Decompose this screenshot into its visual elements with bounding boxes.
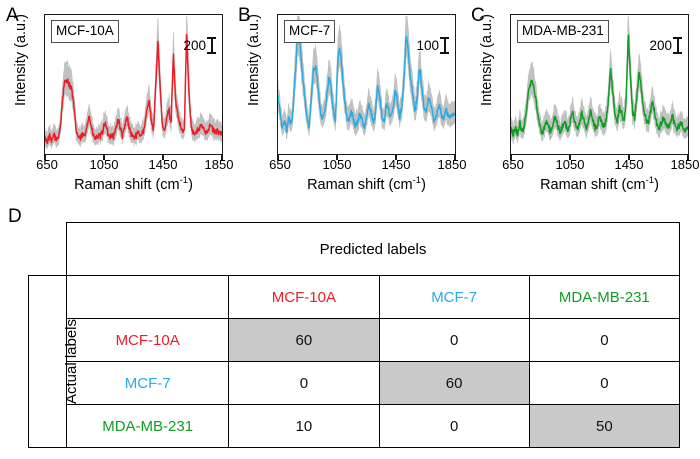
cell-mcf7-mdamb231: 0 [529,362,679,405]
sample-tag-b: MCF-7 [284,20,335,43]
cell-mcf10a-mcf10a: 60 [229,319,379,362]
x-axis-label-tail: ) [654,177,659,193]
column-header-mcf7: MCF-7 [379,276,529,319]
cell-mcf10a-mcf7: 0 [379,319,529,362]
header-corner-blank [67,276,229,319]
plot-area-b: MCF-7 100 [277,14,456,155]
x-tick-label: 1050 [556,158,585,171]
x-axis-label-b: Raman shift (cm-1) [277,175,456,193]
x-axis-label-text: Raman shift (cm [540,177,646,193]
x-tick-label: 1850 [205,158,234,171]
plot-area-a: MCF-10A 200 [44,14,223,155]
table-row: MCF-10A 60 0 0 [29,319,680,362]
scale-bar-value-b: 100 [416,39,439,53]
table-row: MDA-MB-231 10 0 50 [29,405,680,448]
x-tick-label: 1850 [671,158,700,171]
x-tick-label: 1450 [615,158,644,171]
confusion-matrix-wrapper: Predicted labels Actual labels MCF-10A M… [28,222,680,444]
table-row-predicted-header: Predicted labels [29,223,680,276]
cell-mcf10a-mdamb231: 0 [529,319,679,362]
confusion-matrix-table: Predicted labels Actual labels MCF-10A M… [28,222,680,448]
x-axis-tick-labels-b: 650 1050 1450 1850 [233,158,466,174]
row-header-mdamb231: MDA-MB-231 [67,405,229,448]
scale-bar-ibeam-icon-b [440,37,449,54]
panel-c-mdamb231-spectrum: C Intensity (a.u.) MDA-MB-231 200 650 10… [466,0,699,200]
panel-a-mcf10a-spectrum: A Intensity (a.u.) MCF-10A 200 650 1050 … [0,0,233,200]
cell-mcf7-mcf7: 60 [379,362,529,405]
x-axis-label-text: Raman shift (cm [74,177,180,193]
scale-bar-ibeam-icon-c [673,37,682,54]
plot-area-c: MDA-MB-231 200 [510,14,689,155]
x-tick-label: 650 [269,158,291,171]
x-tick-label: 1050 [90,158,119,171]
row-header-mcf10a: MCF-10A [67,319,229,362]
x-axis-label-tail: ) [188,177,193,193]
table-row: MCF-7 0 60 0 [29,362,680,405]
scale-bar-value-a: 200 [183,39,206,53]
x-axis-label-sup: -1 [180,175,188,186]
table-row-column-headers: Actual labels MCF-10A MCF-7 MDA-MB-231 [29,276,680,319]
predicted-labels-header: Predicted labels [67,223,680,276]
scale-bar-b: 100 [416,37,449,54]
scale-bar-a: 200 [183,37,216,54]
x-axis-label-tail: ) [421,177,426,193]
cell-mdamb231-mdamb231: 50 [529,405,679,448]
scale-bar-ibeam-icon-a [207,37,216,54]
x-tick-label: 650 [502,158,524,171]
panel-d-confusion-matrix: D Predicted labels Actual labels MCF-10A [0,200,700,459]
x-tick-label: 1850 [438,158,467,171]
corner-empty-cell [29,223,67,276]
cell-mcf7-mcf10a: 0 [229,362,379,405]
cell-mdamb231-mcf7: 0 [379,405,529,448]
x-tick-label: 1450 [382,158,411,171]
actual-labels-header: Actual labels [63,319,80,404]
x-axis-label-a: Raman shift (cm-1) [44,175,223,193]
scale-bar-c: 200 [649,37,682,54]
scale-bar-value-c: 200 [649,39,672,53]
cell-mdamb231-mcf10a: 10 [229,405,379,448]
x-tick-label: 1450 [149,158,178,171]
x-axis-label-c: Raman shift (cm-1) [510,175,689,193]
y-axis-label-a: Intensity (a.u.) [13,0,29,124]
y-axis-label-c: Intensity (a.u.) [479,0,495,124]
y-axis-label-b: Intensity (a.u.) [246,0,262,124]
actual-labels-header-cell: Actual labels [29,276,67,448]
x-axis-label-text: Raman shift (cm [307,177,413,193]
panel-letter-d: D [8,207,22,226]
x-axis-label-sup: -1 [413,175,421,186]
x-axis-label-sup: -1 [646,175,654,186]
sample-tag-c: MDA-MB-231 [517,20,609,43]
x-axis-tick-labels-c: 650 1050 1450 1850 [466,158,699,174]
panel-b-mcf7-spectrum: B Intensity (a.u.) MCF-7 100 650 1050 14… [233,0,466,200]
x-tick-label: 1050 [323,158,352,171]
column-header-mdamb231: MDA-MB-231 [529,276,679,319]
x-tick-label: 650 [36,158,58,171]
row-header-mcf7: MCF-7 [67,362,229,405]
column-header-mcf10a: MCF-10A [229,276,379,319]
sample-tag-a: MCF-10A [51,20,119,43]
x-axis-tick-labels-a: 650 1050 1450 1850 [0,158,233,174]
